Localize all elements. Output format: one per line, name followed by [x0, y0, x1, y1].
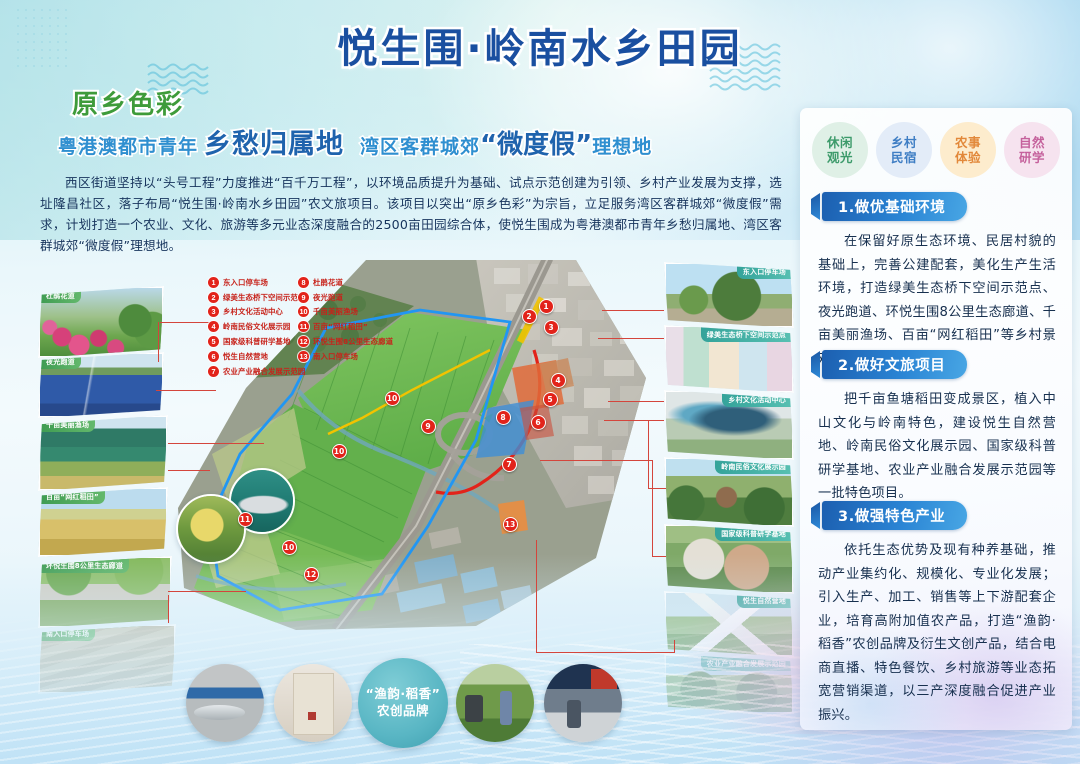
photo-card[interactable]: 岭南民俗文化展示园 [664, 457, 794, 527]
tag-line-2: 体验 [955, 150, 981, 165]
section-heading: 2.做好文旅项目 [822, 350, 967, 379]
theme-tag-list: 休闲 观光 乡村 民宿 农事 体验 自然 研学 [812, 122, 1060, 178]
info-panel: 休闲 观光 乡村 民宿 农事 体验 自然 研学 1.做优基础环境 在保留好原生态… [800, 108, 1072, 730]
panel-section-3: 3.做强特色产业 依托生态优势及现有种养基础，推动产业集约化、规模化、专业化发展… [800, 501, 1072, 727]
legend-label: 千亩美丽渔场 [313, 306, 358, 317]
legend-item[interactable]: 6悦生自然营地 [208, 349, 305, 364]
section-heading: 3.做强特色产业 [822, 501, 967, 530]
connector-line [168, 591, 246, 592]
bottom-circle-filming[interactable] [456, 664, 534, 742]
legend-number: 5 [208, 336, 219, 347]
legend-item[interactable]: 11百亩“网红稻田” [298, 319, 393, 334]
map-marker-13[interactable]: 13 [503, 517, 518, 532]
photo-card[interactable]: 千亩美丽渔场 [38, 415, 168, 491]
photo-card[interactable]: 乡村文化活动中心 [664, 390, 794, 460]
subtitle-part-5: 理想地 [592, 136, 652, 158]
connector-line [674, 640, 675, 653]
map-marker-9[interactable]: 9 [421, 419, 436, 434]
tag-line-1: 休闲 [827, 135, 853, 150]
section-body: 把千亩鱼塘稻田变成景区，植入中山文化与岭南特色，建设悦生自然营地、岭南民俗文化展… [818, 388, 1056, 506]
legend-item[interactable]: 4岭南民俗文化展示园 [208, 319, 305, 334]
legend-column-right: 8杜鹃花道 9夜光跑道 10千亩美丽渔场 11百亩“网红稻田” 12环悦生围8公… [298, 275, 393, 364]
legend-item[interactable]: 5国家级科普研学基地 [208, 334, 305, 349]
connector-line [168, 443, 264, 444]
connector-line [536, 652, 674, 653]
connector-line [604, 420, 664, 421]
legend-item[interactable]: 1东入口停车场 [208, 275, 305, 290]
connector-line [540, 460, 652, 461]
tag-line-1: 乡村 [891, 135, 917, 150]
bottom-circle-seafood-expo[interactable] [544, 664, 622, 742]
legend-label: 农业产业融合发展示范园 [223, 366, 305, 377]
connector-line [536, 540, 537, 652]
map-marker-8[interactable]: 8 [496, 410, 511, 425]
map-marker-5[interactable]: 5 [543, 392, 558, 407]
tag-line-2: 观光 [827, 150, 853, 165]
map-marker-10[interactable]: 10 [332, 444, 347, 459]
map-marker-10[interactable]: 10 [282, 540, 297, 555]
panel-section-1: 1.做优基础环境 在保留好原生态环境、民居村貌的基础上，完善公建配套，美化生产生… [800, 192, 1072, 371]
subtitle-part-4: “微度假” [480, 130, 592, 160]
legend-number: 11 [298, 321, 309, 332]
subtitle-part-1: 粤港澳都市青年 [58, 136, 198, 158]
legend-label: 南入口停车场 [313, 351, 358, 362]
subtitle-green: 原乡色彩 [72, 84, 184, 121]
connector-line [652, 556, 666, 557]
connector-line [598, 338, 664, 339]
connector-line [652, 460, 653, 556]
map-marker-2[interactable]: 2 [522, 309, 537, 324]
legend-item[interactable]: 8杜鹃花道 [298, 275, 393, 290]
legend-item[interactable]: 10千亩美丽渔场 [298, 305, 393, 320]
map-legend: 1东入口停车场 2绿美生态桥下空间示范点 3乡村文化活动中心 4岭南民俗文化展示… [208, 275, 408, 387]
connector-line [168, 470, 210, 471]
legend-item[interactable]: 13南入口停车场 [298, 349, 393, 364]
legend-label: 杜鹃花道 [313, 277, 343, 288]
photo-card[interactable]: 夜光跑道 [38, 352, 164, 418]
poster-root: 悦生围·岭南水乡田园 原乡色彩 粤港澳都市青年乡愁归属地湾区客群城郊“微度假”理… [0, 0, 1080, 764]
legend-label: 百亩“网红稻田” [313, 321, 368, 332]
photo-card[interactable]: 绿美生态桥下空间示范点 [664, 325, 794, 393]
legend-label: 国家级科普研学基地 [223, 336, 290, 347]
tag-line-1: 自然 [1019, 135, 1045, 150]
legend-number: 1 [208, 277, 219, 288]
theme-tag-nature-study[interactable]: 自然 研学 [1004, 122, 1060, 178]
connector-line [168, 595, 169, 623]
legend-column-left: 1东入口停车场 2绿美生态桥下空间示范点 3乡村文化活动中心 4岭南民俗文化展示… [208, 275, 305, 379]
legend-item[interactable]: 3乡村文化活动中心 [208, 305, 305, 320]
theme-tag-farming[interactable]: 农事 体验 [940, 122, 996, 178]
legend-number: 2 [208, 292, 219, 303]
subtitle-line: 粤港澳都市青年乡愁归属地湾区客群城郊“微度假”理想地 [58, 122, 652, 161]
photo-card[interactable]: 百亩“网红稻田” [38, 487, 168, 557]
legend-label: 夜光跑道 [313, 292, 343, 303]
intro-paragraph: 西区街道坚持以“头号工程”力度推进“百千万工程”，以环境品质提升为基础、试点示范… [40, 172, 782, 256]
connector-line [648, 488, 666, 489]
legend-number: 3 [208, 306, 219, 317]
map-marker-4[interactable]: 4 [551, 373, 566, 388]
legend-item[interactable]: 2绿美生态桥下空间示范点 [208, 290, 305, 305]
map-marker-6[interactable]: 6 [531, 415, 546, 430]
legend-number: 10 [298, 306, 309, 317]
subtitle-part-2: 乡愁归属地 [204, 129, 344, 160]
legend-item[interactable]: 12环悦生围8公里生态廊道 [298, 334, 393, 349]
legend-item[interactable]: 7农业产业融合发展示范园 [208, 364, 305, 379]
legend-number: 4 [208, 321, 219, 332]
legend-label: 绿美生态桥下空间示范点 [223, 292, 305, 303]
panel-section-2: 2.做好文旅项目 把千亩鱼塘稻田变成景区，植入中山文化与岭南特色，建设悦生自然营… [800, 350, 1072, 506]
subtitle-part-3: 湾区客群城郊 [360, 136, 480, 158]
map-marker-7[interactable]: 7 [502, 457, 517, 472]
legend-number: 13 [298, 351, 309, 362]
tag-line-2: 民宿 [891, 150, 917, 165]
connector-line [158, 322, 159, 362]
connector-line [156, 390, 216, 391]
bottom-circle-gift-box[interactable] [274, 664, 352, 742]
map-marker-1[interactable]: 1 [539, 299, 554, 314]
bottom-circle-fish-product[interactable] [186, 664, 264, 742]
photo-card[interactable]: 杜鹃花道 [38, 286, 164, 358]
legend-label: 乡村文化活动中心 [223, 306, 283, 317]
brand-line-2: 农创品牌 [377, 703, 429, 720]
legend-label: 东入口停车场 [223, 277, 268, 288]
photo-card[interactable]: 东入口停车场 [664, 262, 794, 328]
tag-line-1: 农事 [955, 135, 981, 150]
legend-number: 7 [208, 366, 219, 377]
brand-line-1: “渔韵·稻香” [366, 686, 441, 703]
legend-number: 8 [298, 277, 309, 288]
header-title-wrap: 悦生围·岭南水乡田园 [0, 16, 1080, 74]
section-heading: 1.做优基础环境 [822, 192, 967, 221]
map-marker-11[interactable]: 11 [238, 512, 253, 527]
map-marker-10[interactable]: 10 [385, 391, 400, 406]
section-body: 依托生态优势及现有种养基础，推动产业集约化、规模化、专业化发展；引入生产、加工、… [818, 539, 1056, 727]
brand-badge: “渔韵·稻香” 农创品牌 [358, 658, 448, 748]
legend-label: 悦生自然营地 [223, 351, 268, 362]
legend-number: 9 [298, 292, 309, 303]
tag-line-2: 研学 [1019, 150, 1045, 165]
map-marker-3[interactable]: 3 [544, 320, 559, 335]
theme-tag-leisure[interactable]: 休闲 观光 [812, 122, 868, 178]
legend-label: 岭南民俗文化展示园 [223, 321, 290, 332]
connector-line [608, 401, 664, 402]
connector-line [602, 310, 664, 311]
legend-item[interactable]: 9夜光跑道 [298, 290, 393, 305]
legend-number: 6 [208, 351, 219, 362]
legend-number: 12 [298, 336, 309, 347]
connector-line [648, 420, 649, 488]
theme-tag-homestay[interactable]: 乡村 民宿 [876, 122, 932, 178]
page-title: 悦生围·岭南水乡田园 [337, 16, 742, 74]
legend-label: 环悦生围8公里生态廊道 [313, 336, 393, 347]
map-marker-12[interactable]: 12 [304, 567, 319, 582]
